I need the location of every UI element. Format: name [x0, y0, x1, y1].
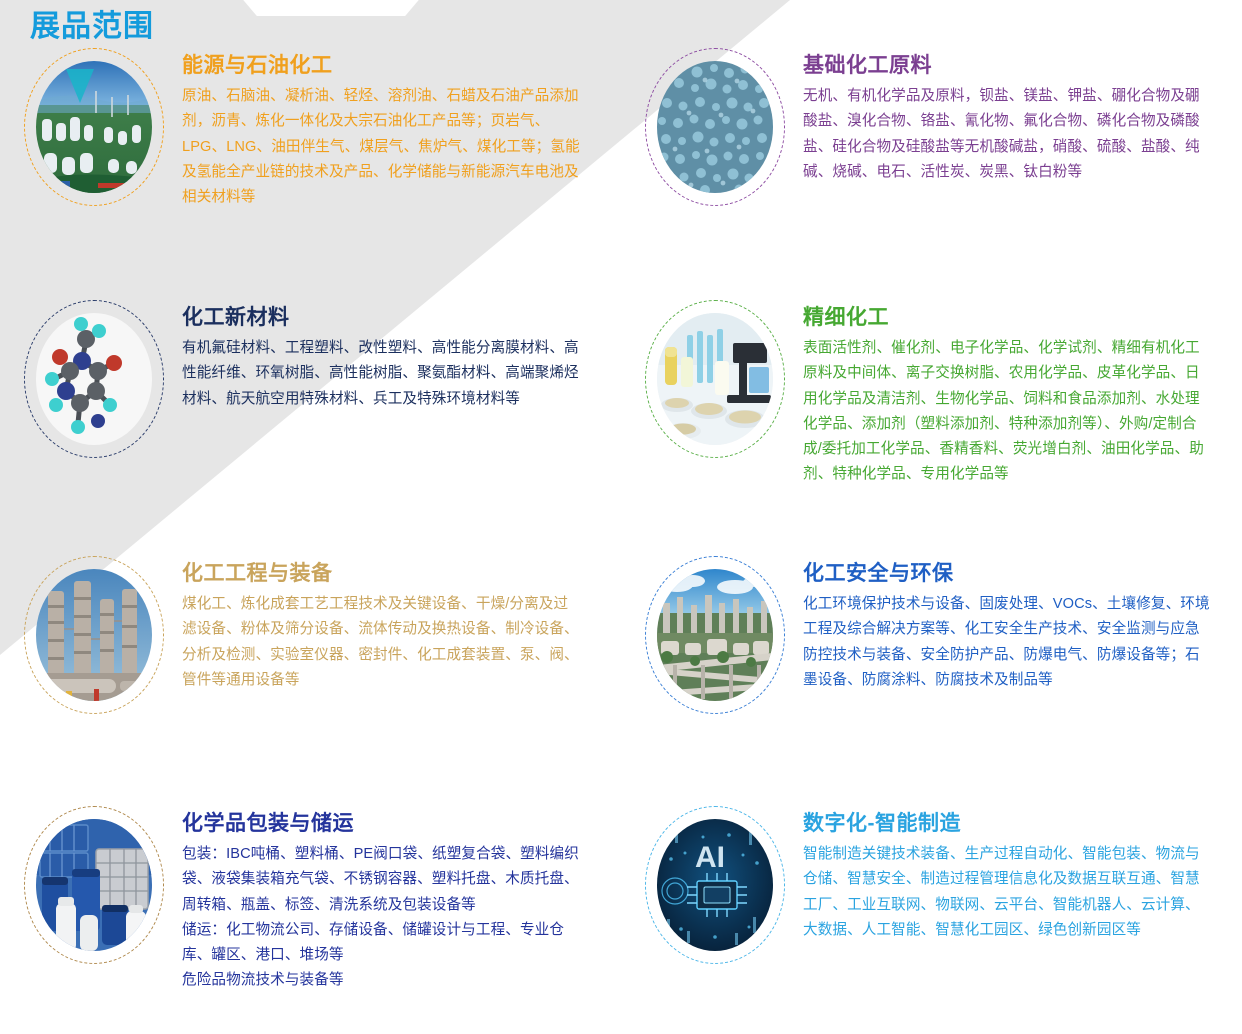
- blue-drums-ibc-photo-icon: [36, 819, 152, 951]
- category-card-chemical-packaging-storage[interactable]: 化学品包装与储运 包装：IBC吨桶、塑料桶、PE阀口袋、纸塑复合袋、塑料编织袋、…: [24, 806, 604, 993]
- exhibit-scope-page: 展品范围: [0, 0, 1242, 1034]
- category-thumbnail: [24, 48, 168, 210]
- description-line-storage: 储运：化工物流公司、存储设备、储罐设计与工程、专业仓库、罐区、港口、堆场等: [182, 918, 582, 968]
- category-title: 化学品包装与储运: [182, 810, 582, 838]
- molecule-model-icon: [36, 313, 152, 445]
- category-card-new-chemical-materials[interactable]: 化工新材料 有机氟硅材料、工程塑料、改性塑料、高性能分离膜材料、高性能纤维、环氧…: [24, 300, 604, 462]
- svg-text:AI: AI: [695, 841, 725, 874]
- category-card-basic-chemical-materials[interactable]: 基础化工原料 无机、有机化学品及原料，钡盐、镁盐、钾盐、硼化合物及硼酸盐、溴化合…: [645, 48, 1235, 210]
- category-thumbnail: [24, 806, 168, 968]
- category-thumbnail: AI: [645, 806, 789, 968]
- category-description: 无机、有机化学品及原料，钡盐、镁盐、钾盐、硼化合物及硼酸盐、溴化合物、铬盐、氰化…: [803, 84, 1213, 184]
- category-card-chemical-safety-environment[interactable]: 化工安全与环保 化工环境保护技术与设备、固废处理、VOCs、土壤修复、环境工程及…: [645, 556, 1235, 718]
- category-card-digital-intelligent-manufacturing[interactable]: AI: [645, 806, 1235, 968]
- page-title: 展品范围: [30, 8, 154, 46]
- category-text-block: 数字化-智能制造 智能制造关键技术装备、生产过程自动化、智能包装、物流与仓储、智…: [803, 806, 1213, 943]
- category-text-block: 化工安全与环保 化工环境保护技术与设备、固废处理、VOCs、土壤修复、环境工程及…: [803, 556, 1213, 693]
- category-thumbnail: [24, 300, 168, 462]
- description-line-hazmat: 危险品物流技术与装备等: [182, 968, 582, 993]
- category-thumbnail: [645, 556, 789, 718]
- category-thumbnail: [645, 300, 789, 462]
- category-text-block: 化学品包装与储运 包装：IBC吨桶、塑料桶、PE阀口袋、纸塑复合袋、塑料编织袋、…: [182, 806, 582, 993]
- category-title: 基础化工原料: [803, 52, 1213, 80]
- category-description: 智能制造关键技术装备、生产过程自动化、智能包装、物流与仓储、智慧安全、制造过程管…: [803, 842, 1213, 942]
- category-card-energy-petrochemical[interactable]: 能源与石油化工 原油、石脑油、凝析油、轻烃、溶剂油、石蜡及石油产品添加剂，沥青、…: [24, 48, 604, 210]
- refinery-aerial-photo-icon: [36, 61, 152, 193]
- category-description: 有机氟硅材料、工程塑料、改性塑料、高性能分离膜材料、高性能纤维、环氧树脂、高性能…: [182, 336, 582, 411]
- laboratory-samples-photo-icon: [657, 313, 773, 445]
- distillation-towers-photo-icon: [36, 569, 152, 701]
- category-title: 数字化-智能制造: [803, 810, 1213, 838]
- category-card-chemical-engineering-equipment[interactable]: 化工工程与装备 煤化工、炼化成套工艺工程技术及关键设备、干燥/分离及过滤设备、粉…: [24, 556, 604, 718]
- category-title: 精细化工: [803, 304, 1213, 332]
- category-description: 化工环境保护技术与设备、固废处理、VOCs、土壤修复、环境工程及综合解决方案等、…: [803, 592, 1213, 692]
- category-text-block: 能源与石油化工 原油、石脑油、凝析油、轻烃、溶剂油、石蜡及石油产品添加剂，沥青、…: [182, 48, 582, 210]
- category-title: 化工安全与环保: [803, 560, 1213, 588]
- petrochemical-plant-photo-icon: [657, 569, 773, 701]
- category-title: 化工工程与装备: [182, 560, 582, 588]
- exhibit-category-grid: 能源与石油化工 原油、石脑油、凝析油、轻烃、溶剂油、石蜡及石油产品添加剂，沥青、…: [0, 0, 1242, 1034]
- category-title: 能源与石油化工: [182, 52, 582, 80]
- category-description: 原油、石脑油、凝析油、轻烃、溶剂油、石蜡及石油产品添加剂，沥青、炼化一体化及大宗…: [182, 84, 582, 209]
- category-text-block: 基础化工原料 无机、有机化学品及原料，钡盐、镁盐、钾盐、硼化合物及硼酸盐、溴化合…: [803, 48, 1213, 185]
- category-text-block: 精细化工 表面活性剂、催化剂、电子化学品、化学试剂、精细有机化工原料及中间体、离…: [803, 300, 1213, 487]
- category-thumbnail: [645, 48, 789, 210]
- category-card-fine-chemicals[interactable]: 精细化工 表面活性剂、催化剂、电子化学品、化学试剂、精细有机化工原料及中间体、离…: [645, 300, 1235, 487]
- category-description: 煤化工、炼化成套工艺工程技术及关键设备、干燥/分离及过滤设备、粉体及筛分设备、流…: [182, 592, 582, 692]
- category-description: 包装：IBC吨桶、塑料桶、PE阀口袋、纸塑复合袋、塑料编织袋、液袋集装箱充气袋、…: [182, 842, 582, 993]
- category-text-block: 化工新材料 有机氟硅材料、工程塑料、改性塑料、高性能分离膜材料、高性能纤维、环氧…: [182, 300, 582, 412]
- blue-granules-photo-icon: [657, 61, 773, 193]
- category-description: 表面活性剂、催化剂、电子化学品、化学试剂、精细有机化工原料及中间体、离子交换树脂…: [803, 336, 1213, 487]
- category-thumbnail: [24, 556, 168, 718]
- ai-chip-photo-icon: AI: [657, 819, 773, 951]
- description-line-packaging: 包装：IBC吨桶、塑料桶、PE阀口袋、纸塑复合袋、塑料编织袋、液袋集装箱充气袋、…: [182, 842, 582, 917]
- category-text-block: 化工工程与装备 煤化工、炼化成套工艺工程技术及关键设备、干燥/分离及过滤设备、粉…: [182, 556, 582, 693]
- category-title: 化工新材料: [182, 304, 582, 332]
